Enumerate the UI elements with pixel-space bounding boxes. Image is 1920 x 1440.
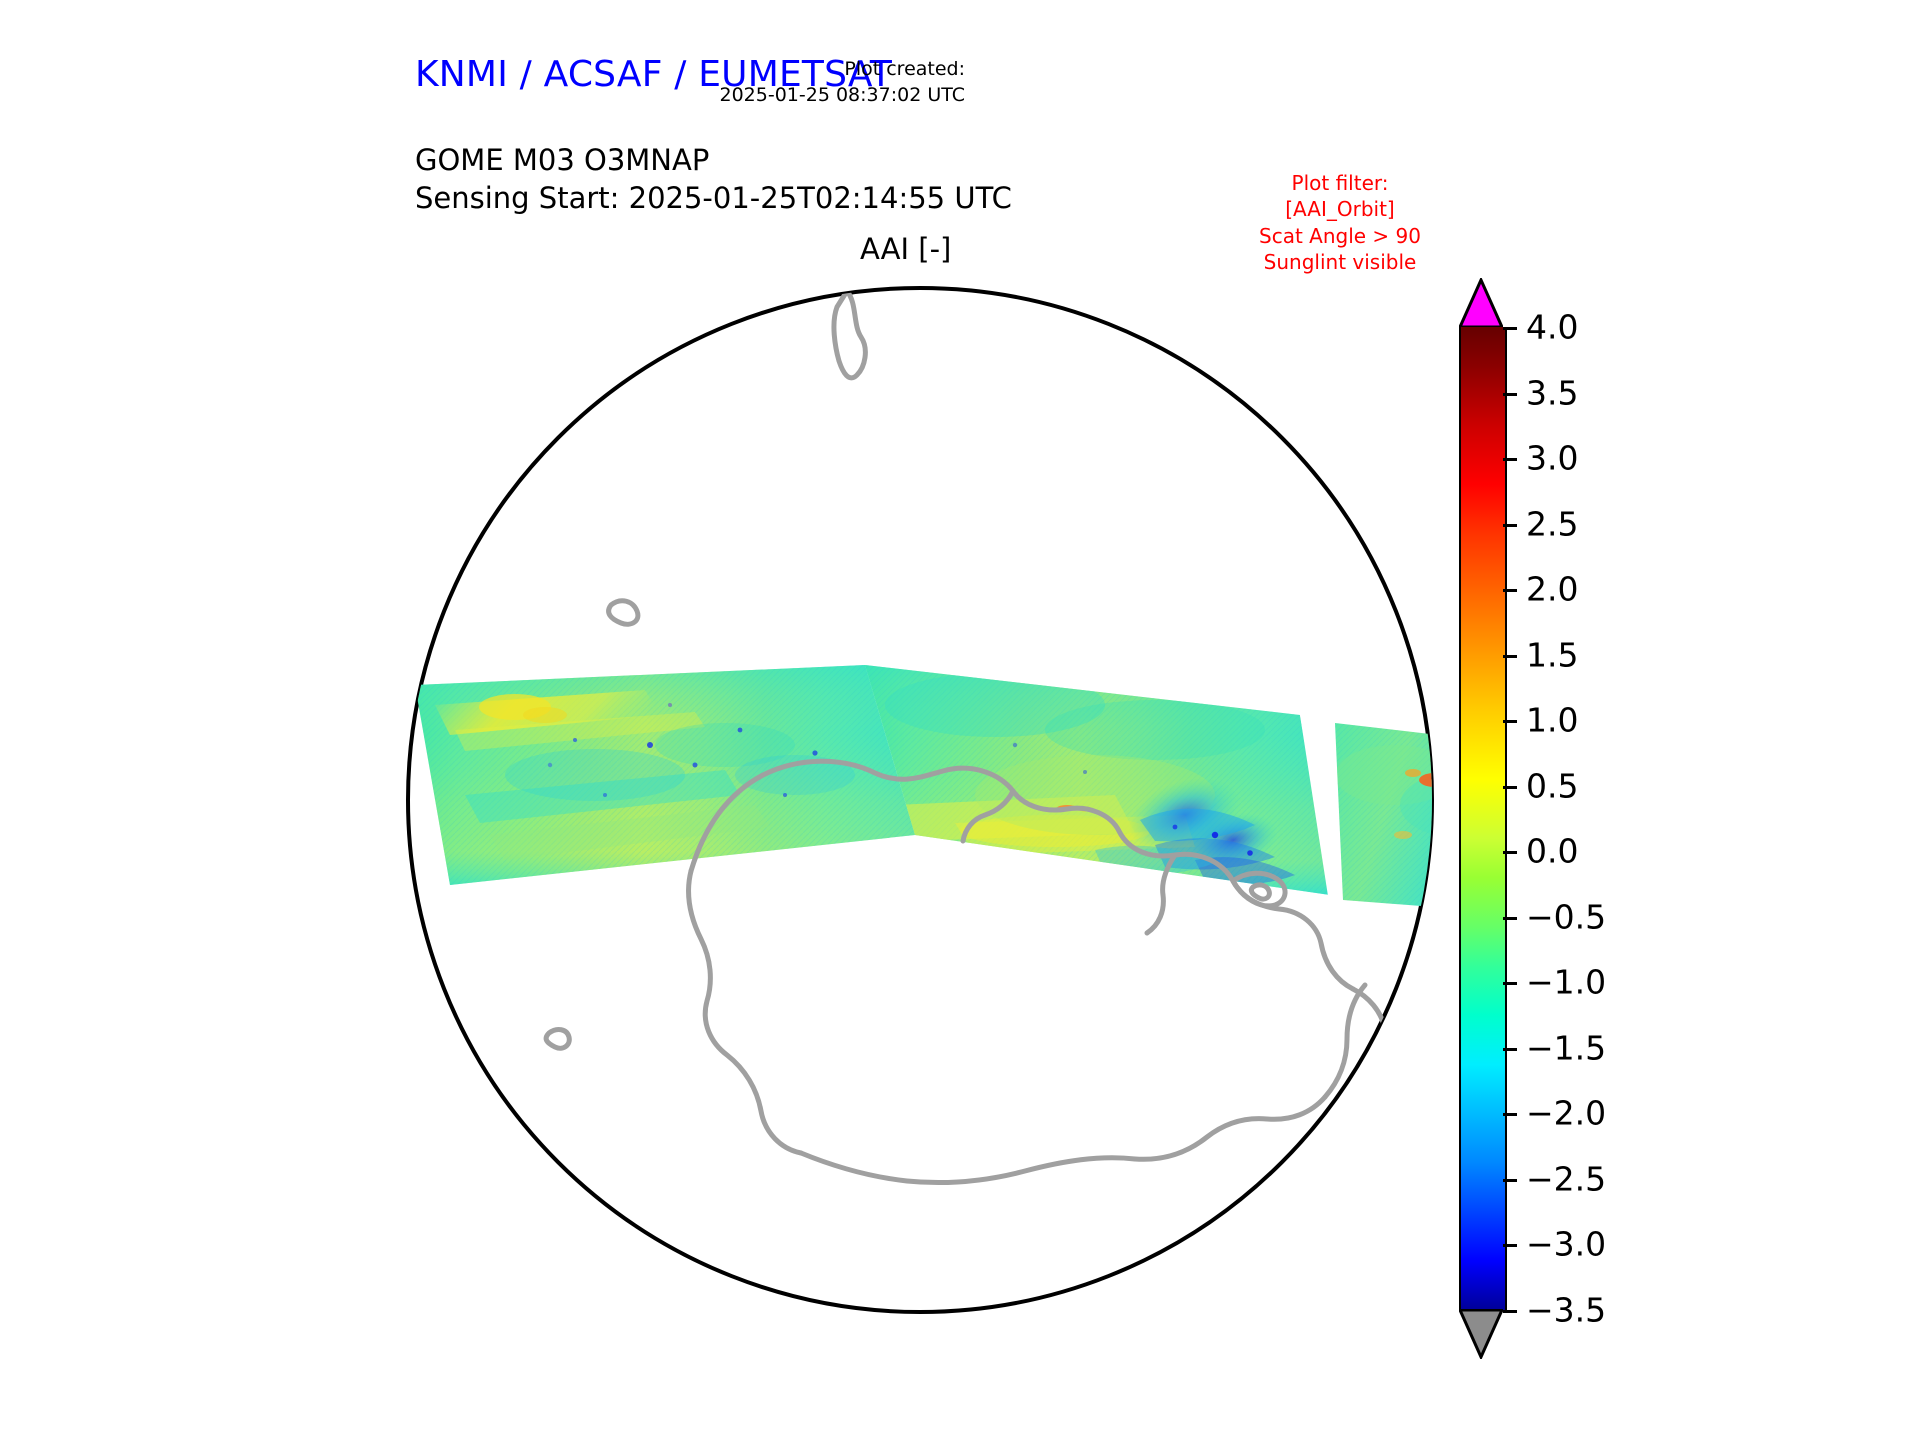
colorbar-tick xyxy=(1503,1048,1517,1051)
colorbar-tick xyxy=(1503,1113,1517,1116)
colorbar-tick-label: −2.5 xyxy=(1526,1159,1606,1198)
plot-created-label: Plot created: xyxy=(720,57,966,83)
colorbar-tick-label: 4.0 xyxy=(1526,308,1578,347)
colorbar-tick xyxy=(1503,327,1517,330)
colorbar-tick-label: 0.5 xyxy=(1526,766,1578,805)
colorbar-tick xyxy=(1503,524,1517,527)
colorbar-tick xyxy=(1503,720,1517,723)
colorbar-tick-label: 2.5 xyxy=(1526,504,1578,543)
colorbar-tick-label: 3.5 xyxy=(1526,373,1578,412)
sensing-start-line: Sensing Start: 2025-01-25T02:14:55 UTC xyxy=(415,180,1012,218)
colorbar-tick-label: −1.0 xyxy=(1526,963,1606,1002)
instrument-product-line: GOME M03 O3MNAP xyxy=(415,142,1012,180)
colorbar-tick-label: −3.0 xyxy=(1526,1225,1606,1264)
colorbar-tick xyxy=(1503,1310,1517,1313)
plot-filter-block: Plot filter: [AAI_Orbit] Scat Angle > 90… xyxy=(1225,170,1455,276)
filter-line-1: Plot filter: xyxy=(1225,170,1455,196)
colorbar-tick-label: −3.5 xyxy=(1526,1291,1606,1330)
colorbar-tick xyxy=(1503,458,1517,461)
aai-swath-east xyxy=(1325,715,1445,930)
plot-created-block: Plot created: 2025-01-25 08:37:02 UTC xyxy=(720,57,966,108)
colorbar[interactable]: 4.03.53.02.52.01.51.00.50.0−0.5−1.0−1.5−… xyxy=(1440,280,1700,1315)
colorbar-tick xyxy=(1503,982,1517,985)
filter-line-4: Sunglint visible xyxy=(1225,249,1455,275)
colorbar-tick-label: 2.0 xyxy=(1526,570,1578,609)
colorbar-tick-label: 0.0 xyxy=(1526,832,1578,871)
dataset-info-block: GOME M03 O3MNAP Sensing Start: 2025-01-2… xyxy=(415,142,1012,217)
colorbar-tick xyxy=(1503,589,1517,592)
plot-variable-title: AAI [-] xyxy=(860,232,951,266)
colorbar-tick-label: 3.0 xyxy=(1526,439,1578,478)
colorbar-tick xyxy=(1503,655,1517,658)
colorbar-gradient xyxy=(1459,327,1507,1310)
colorbar-tick xyxy=(1503,393,1517,396)
colorbar-tick xyxy=(1503,851,1517,854)
map-panel[interactable] xyxy=(395,275,1445,1325)
colorbar-tick xyxy=(1503,786,1517,789)
colorbar-over-range-arrow xyxy=(1459,279,1503,327)
colorbar-tick xyxy=(1503,1179,1517,1182)
colorbar-under-range-arrow xyxy=(1459,1310,1503,1358)
colorbar-tick-label: 1.5 xyxy=(1526,635,1578,674)
colorbar-tick-label: −1.5 xyxy=(1526,1028,1606,1067)
colorbar-tick-label: −2.0 xyxy=(1526,1094,1606,1133)
colorbar-tick xyxy=(1503,917,1517,920)
filter-line-3: Scat Angle > 90 xyxy=(1225,223,1455,249)
colorbar-tick xyxy=(1503,1244,1517,1247)
filter-line-2: [AAI_Orbit] xyxy=(1225,196,1455,222)
orthographic-globe[interactable] xyxy=(395,275,1445,1325)
colorbar-tick-label: −0.5 xyxy=(1526,897,1606,936)
plot-created-timestamp: 2025-01-25 08:37:02 UTC xyxy=(720,83,966,109)
colorbar-tick-label: 1.0 xyxy=(1526,701,1578,740)
